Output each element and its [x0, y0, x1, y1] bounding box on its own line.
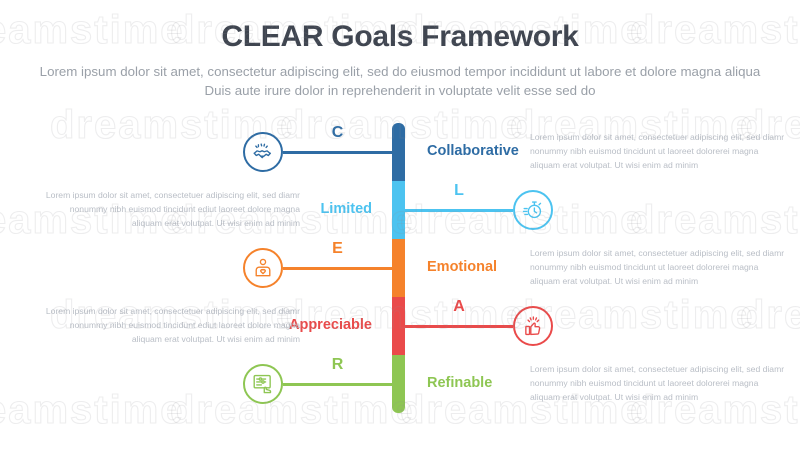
bar-segment-limited	[392, 181, 405, 239]
row-letter-e: E	[283, 241, 392, 257]
stopwatch-icon[interactable]	[513, 190, 553, 230]
row-keyword: Emotional	[427, 259, 497, 276]
row-keyword: Refinable	[427, 375, 492, 392]
bar-segment-refinable	[392, 355, 405, 413]
settings-hand-icon[interactable]	[243, 364, 283, 404]
row-letter-r: R	[283, 357, 392, 373]
row-description: Lorem ipsum dolor sit amet, consectetuer…	[42, 305, 300, 347]
connector-line	[399, 209, 514, 212]
row-description: Lorem ipsum dolor sit amet, consectetuer…	[530, 247, 788, 289]
row-letter-c: C	[283, 125, 392, 141]
thumbs-up-icon[interactable]	[513, 306, 553, 346]
row-letter-a: A	[405, 299, 513, 315]
connector-line	[283, 383, 399, 386]
bar-segment-collaborative	[392, 123, 405, 181]
row-description: Lorem ipsum dolor sit amet, consectetuer…	[42, 189, 300, 231]
row-description: Lorem ipsum dolor sit amet, consectetuer…	[530, 363, 788, 405]
clear-framework-diagram: CCollaborativeLorem ipsum dolor sit amet…	[0, 0, 800, 450]
connector-line	[283, 267, 399, 270]
center-stacked-bar	[392, 123, 405, 413]
connector-line	[283, 151, 399, 154]
row-keyword: Collaborative	[427, 143, 519, 160]
connector-line	[399, 325, 514, 328]
row-description: Lorem ipsum dolor sit amet, consectetuer…	[530, 131, 788, 173]
handshake-icon[interactable]	[243, 132, 283, 172]
bar-segment-appreciable	[392, 297, 405, 355]
row-letter-l: L	[405, 183, 513, 199]
person-heart-icon[interactable]	[243, 248, 283, 288]
bar-segment-emotional	[392, 239, 405, 297]
